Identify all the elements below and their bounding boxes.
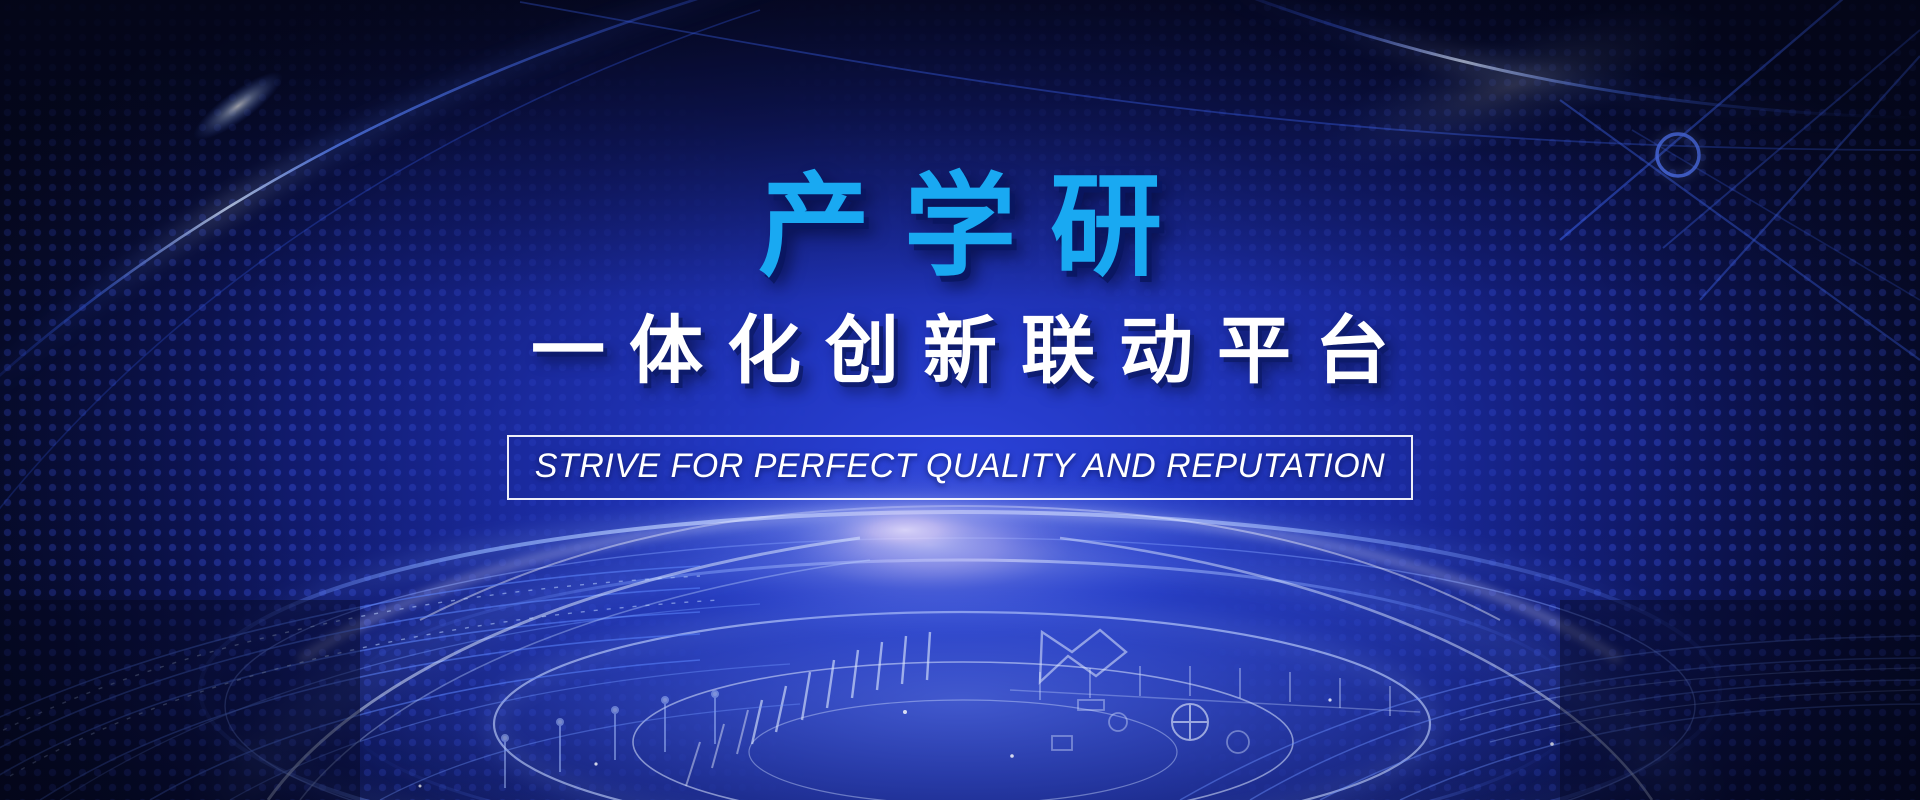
tagline-text: STRIVE FOR PERFECT QUALITY AND REPUTATIO… bbox=[535, 447, 1385, 486]
banner-text-block: 产学研 一体化创新联动平台 STRIVE FOR PERFECT QUALITY… bbox=[0, 168, 1920, 500]
hero-banner: 产学研 一体化创新联动平台 STRIVE FOR PERFECT QUALITY… bbox=[0, 0, 1920, 800]
tagline-frame: STRIVE FOR PERFECT QUALITY AND REPUTATIO… bbox=[507, 435, 1413, 500]
page-title: 产学研 bbox=[724, 168, 1196, 286]
page-subtitle: 一体化创新联动平台 bbox=[507, 310, 1413, 391]
